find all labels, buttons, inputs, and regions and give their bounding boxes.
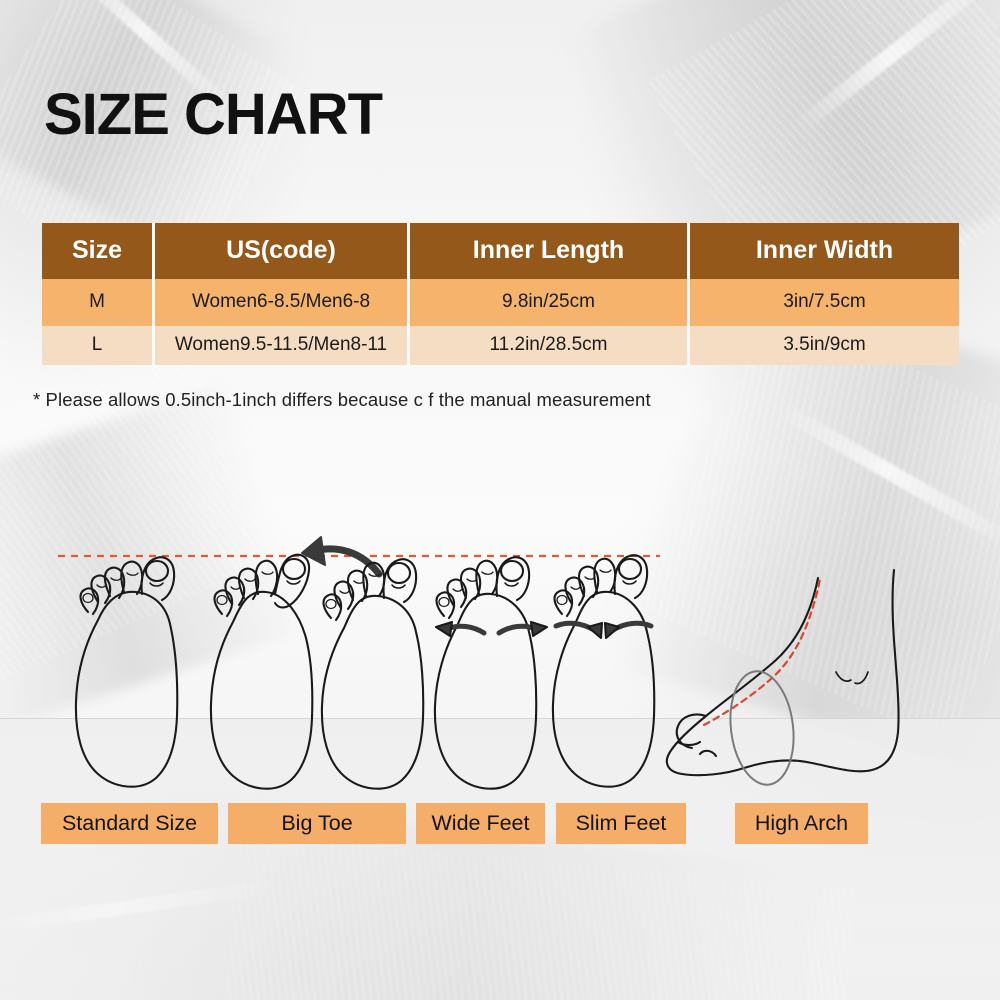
column-header-inner-length: Inner Length — [410, 223, 690, 279]
background-image — [0, 0, 1000, 1000]
cell-size-m: M — [42, 279, 155, 326]
cell-us-code-l: Women9.5-11.5/Men8-11 — [155, 326, 410, 365]
cell-size-l: L — [42, 326, 155, 365]
cell-inner-length-m: 9.8in/25cm — [410, 279, 690, 326]
column-header-us-code: US(code) — [155, 223, 410, 279]
chip-label: High Arch — [755, 811, 848, 836]
chip-label: Wide Feet — [432, 811, 530, 836]
table-header-row: Size US(code) Inner Length Inner Width — [42, 223, 959, 279]
foot-high-arch-side-view — [667, 570, 899, 788]
table-row: M Women6-8.5/Men6-8 9.8in/25cm 3in/7.5cm — [42, 279, 959, 326]
cell-inner-width-l: 3.5in/9cm — [690, 326, 959, 365]
cell-inner-length-l: 11.2in/28.5cm — [410, 326, 690, 365]
chip-standard-size: Standard Size — [41, 803, 218, 844]
chip-label: Slim Feet — [576, 811, 667, 836]
foot-wide-feet — [322, 559, 423, 788]
wide-arrow-head-right — [531, 622, 547, 636]
slim-narrow-arrows — [556, 623, 651, 630]
chip-wide-feet: Wide Feet — [416, 803, 545, 844]
foot-wide-feet-arrows — [435, 557, 547, 788]
column-header-inner-width: Inner Width — [690, 223, 959, 279]
chip-high-arch: High Arch — [735, 803, 868, 844]
foot-type-diagrams — [0, 520, 1000, 810]
table-row: L Women9.5-11.5/Men8-11 11.2in/28.5cm 3.… — [42, 326, 959, 365]
wide-arrow-head-left — [436, 622, 452, 636]
measurement-disclaimer: * Please allows 0.5inch-1inch differs be… — [33, 389, 651, 411]
foot-standard-size — [76, 557, 177, 786]
big-toe-arrow-head — [302, 537, 325, 565]
chip-label: Standard Size — [62, 811, 197, 836]
column-header-size: Size — [42, 223, 155, 279]
size-chart-table: Size US(code) Inner Length Inner Width M… — [42, 223, 959, 365]
foot-slim-feet — [553, 555, 654, 786]
chip-big-toe: Big Toe — [228, 803, 406, 844]
wide-spread-arrows — [447, 626, 536, 633]
chip-slim-feet: Slim Feet — [556, 803, 686, 844]
cell-inner-width-m: 3in/7.5cm — [690, 279, 959, 326]
cell-us-code-m: Women6-8.5/Men6-8 — [155, 279, 410, 326]
page-title: SIZE CHART — [44, 86, 382, 144]
foot-big-toe — [211, 537, 379, 789]
chip-label: Big Toe — [281, 811, 352, 836]
